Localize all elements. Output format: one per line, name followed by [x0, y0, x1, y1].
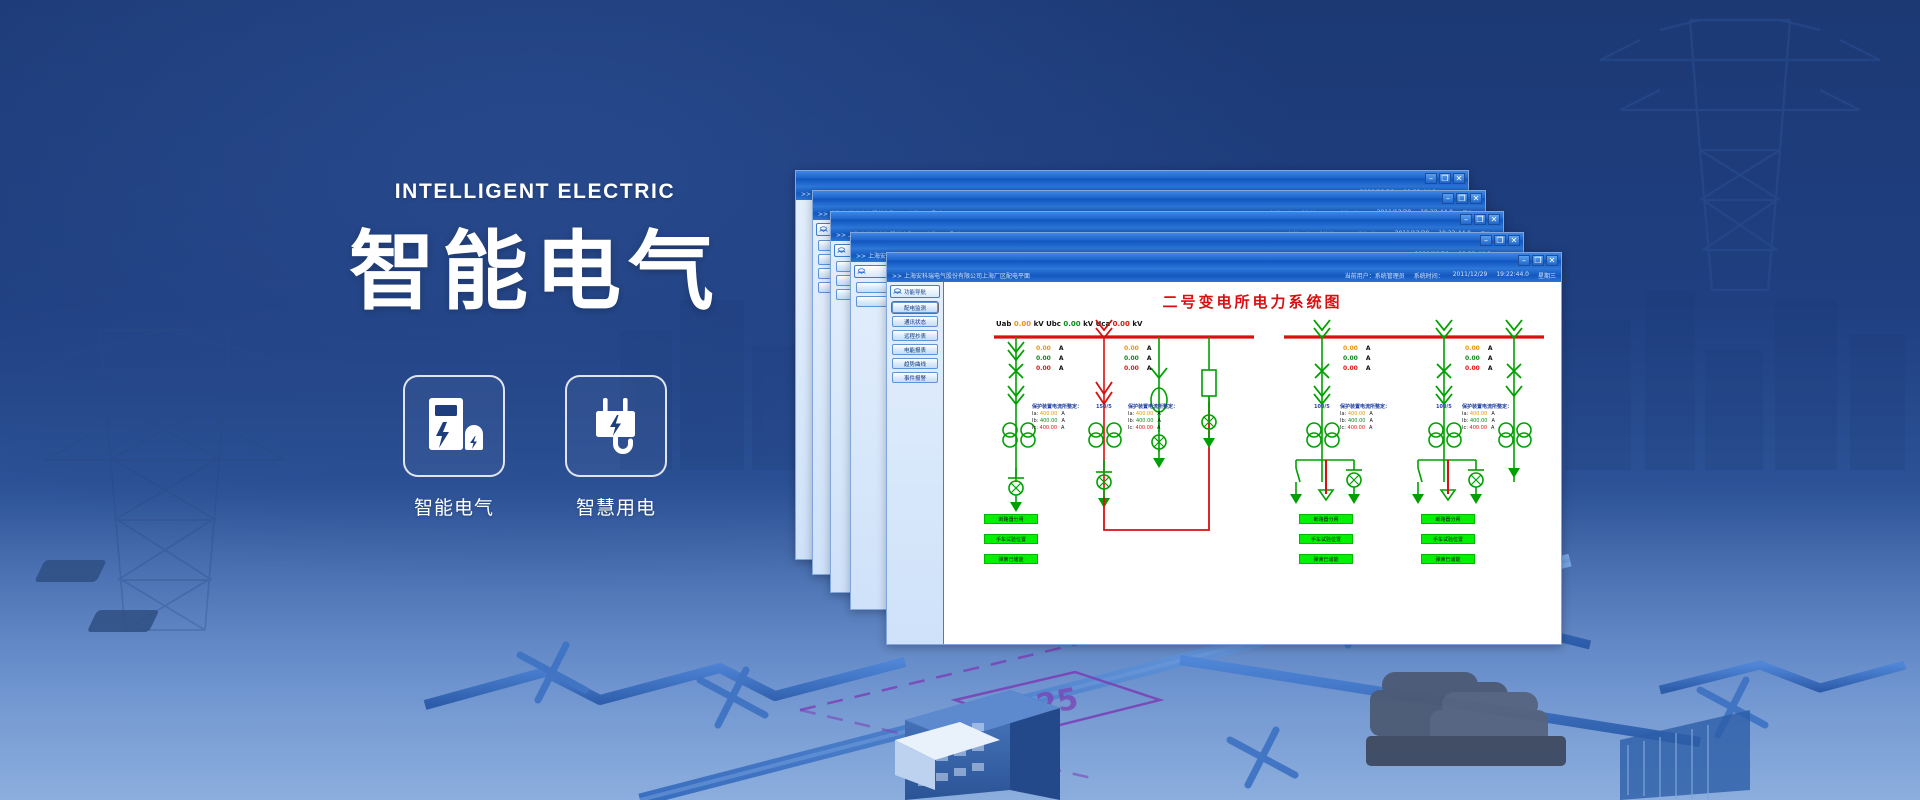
active-window[interactable]: – ❐ ✕ >> 上海安科瑞电气股份有限公司上海厂区配电平面 当前用户：系统管理…: [886, 252, 1562, 645]
sidebar-item-label: 事件报警: [904, 374, 926, 382]
sidebar-item-label: 通讯状态: [904, 318, 926, 326]
book-icon: [819, 226, 828, 233]
window-sidebar: 功能导航 配电监测 通讯状态 远程抄表 电能报表 趋势曲线 事件: [887, 282, 944, 644]
window-titlebar[interactable]: – ❐ ✕: [851, 233, 1523, 248]
window-titlebar[interactable]: – ❐ ✕: [887, 253, 1561, 268]
protection-settings-1: 保护装置电流所整定： Ia: 400.00A Ib: 400.00A Ic: 4…: [1032, 404, 1082, 432]
close-button[interactable]: ✕: [1453, 173, 1465, 184]
maximize-button[interactable]: ❐: [1439, 173, 1451, 184]
maximize-button[interactable]: ❐: [1494, 235, 1506, 246]
status-badge-spring-charged-2[interactable]: 弹簧已储能: [1299, 554, 1353, 564]
close-button[interactable]: ✕: [1546, 255, 1558, 266]
weekday: 星期三: [1538, 271, 1556, 280]
status-badge-breaker-open-1[interactable]: 断路器分闸: [984, 514, 1038, 524]
window-stack: – ❐ ✕ >> 上海安科瑞电气股份有限公司上海厂区配电平面 当前用户：系统管理…: [0, 0, 1920, 800]
close-button[interactable]: ✕: [1488, 214, 1500, 225]
status-badge-truck-test-3[interactable]: 手车试验位置: [1421, 534, 1475, 544]
current-readout-feeder-6: 0.00A 0.00A 0.00A: [1465, 344, 1492, 374]
close-button[interactable]: ✕: [1470, 193, 1482, 204]
book-icon: [893, 288, 902, 295]
sidebar-item-label: 配电监测: [904, 304, 926, 312]
minimize-button[interactable]: –: [1460, 214, 1472, 225]
current-user: 当前用户：系统管理员: [1345, 271, 1405, 280]
minimize-button[interactable]: –: [1442, 193, 1454, 204]
window-appbar: >> 上海安科瑞电气股份有限公司上海厂区配电平面 当前用户：系统管理员 系统时间…: [887, 268, 1561, 282]
sidebar-item-label: 趋势曲线: [904, 360, 926, 368]
sidebar-item-energy-report[interactable]: 电能报表: [892, 344, 938, 355]
sidebar-item-trend-curve[interactable]: 趋势曲线: [892, 358, 938, 369]
sidebar-item-label: 远程抄表: [904, 332, 926, 340]
close-button[interactable]: ✕: [1508, 235, 1520, 246]
current-readout-feeder-2: 0.00A 0.00A 0.00A: [1124, 344, 1151, 374]
protection-settings-2: 保护装置电流所整定： Ia: 400.00A Ib: 400.00A Ic: 4…: [1128, 404, 1178, 432]
window-titlebar[interactable]: – ❐ ✕: [831, 212, 1503, 227]
minimize-button[interactable]: –: [1518, 255, 1530, 266]
status-badge-spring-charged-1[interactable]: 弹簧已储能: [984, 554, 1038, 564]
book-icon: [857, 268, 866, 275]
book-icon: [837, 247, 846, 254]
status-badge-breaker-open-2[interactable]: 断路器分闸: [1299, 514, 1353, 524]
window-titlebar[interactable]: – ❐ ✕: [813, 191, 1485, 206]
maximize-button[interactable]: ❐: [1532, 255, 1544, 266]
protection-settings-4: 保护装置电流所整定： Ia: 400.00A Ib: 400.00A Ic: 4…: [1462, 404, 1512, 432]
nav-header-label: 功能导航: [904, 288, 926, 296]
window-body: 功能导航 配电监测 通讯状态 远程抄表 电能报表 趋势曲线 事件: [887, 282, 1561, 644]
sld-canvas: 二号变电所电力系统图 Uab 0.00 kV Ubc 0.00 kV Uca 0…: [944, 282, 1561, 644]
minimize-button[interactable]: –: [1480, 235, 1492, 246]
sidebar-item-event-alarm[interactable]: 事件报警: [892, 372, 938, 383]
breadcrumb: >> 上海安科瑞电气股份有限公司上海厂区配电平面: [892, 271, 1030, 280]
protection-settings-3: 保护装置电流所整定： Ia: 400.00A Ib: 400.00A Ic: 4…: [1340, 404, 1390, 432]
current-readout-feeder-5: 0.00A 0.00A 0.00A: [1343, 344, 1370, 374]
status-badge-spring-charged-3[interactable]: 弹簧已储能: [1421, 554, 1475, 564]
ct-ratio-label-1: 150/5: [1096, 404, 1112, 410]
sidebar-item-label: 电能报表: [904, 346, 926, 354]
ct-ratio-label-2: 100/5: [1314, 404, 1330, 410]
sidebar-item-comm-status[interactable]: 通讯状态: [892, 316, 938, 327]
system-clock: 19:22:44.0: [1496, 271, 1529, 280]
system-time-label: 系统时间：: [1414, 271, 1444, 280]
ct-ratio-label-3: 100/5: [1436, 404, 1452, 410]
minimize-button[interactable]: –: [1425, 173, 1437, 184]
maximize-button[interactable]: ❐: [1456, 193, 1468, 204]
single-line-diagram: [944, 282, 1561, 644]
status-badge-truck-test-2[interactable]: 手车试验位置: [1299, 534, 1353, 544]
status-badge-truck-test-1[interactable]: 手车试验位置: [984, 534, 1038, 544]
nav-header: 功能导航: [890, 285, 940, 298]
current-readout-feeder-1: 0.00A 0.00A 0.00A: [1036, 344, 1063, 374]
sidebar-item-remote-meter[interactable]: 远程抄表: [892, 330, 938, 341]
system-date: 2011/12/29: [1453, 271, 1488, 280]
window-titlebar[interactable]: – ❐ ✕: [796, 171, 1468, 186]
maximize-button[interactable]: ❐: [1474, 214, 1486, 225]
sidebar-item-power-monitor[interactable]: 配电监测: [892, 302, 938, 313]
status-badge-breaker-open-3[interactable]: 断路器分闸: [1421, 514, 1475, 524]
